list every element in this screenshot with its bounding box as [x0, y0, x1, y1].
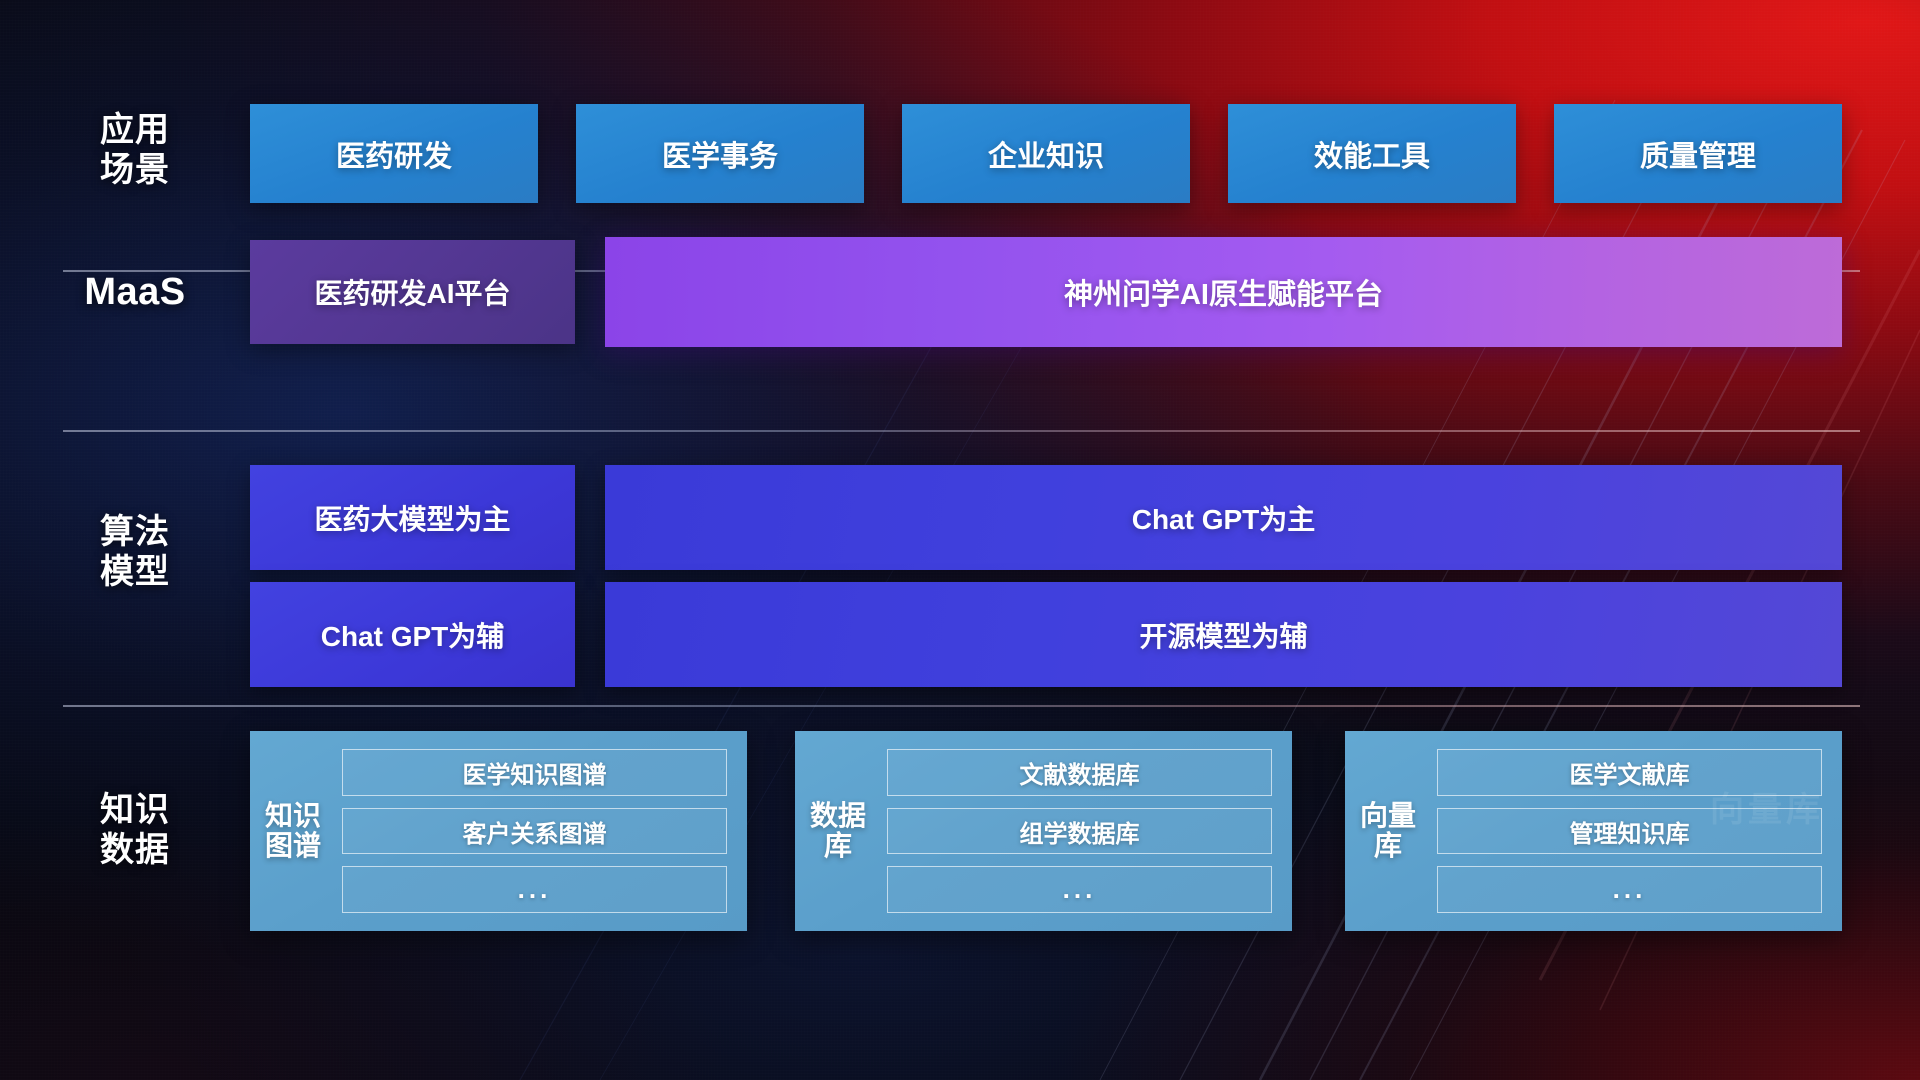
- app-card-qiyezhishi[interactable]: 企业知识: [902, 104, 1190, 203]
- maas-card-label: 医药研发AI平台: [314, 272, 510, 312]
- app-card-label: 医药研发: [336, 133, 452, 175]
- algorithm-card-chatgpt-primary[interactable]: Chat GPT为主: [605, 465, 1842, 570]
- app-card-zhiliangguanli[interactable]: 质量管理: [1554, 104, 1842, 203]
- app-card-label: 效能工具: [1314, 133, 1430, 175]
- knowledge-item[interactable]: 管理知识库: [1437, 808, 1822, 855]
- knowledge-item[interactable]: 组学数据库: [887, 808, 1272, 855]
- algorithm-card-label: Chat GPT为辅: [321, 615, 505, 655]
- app-card-label: 质量管理: [1640, 133, 1756, 175]
- knowledge-group-vector-database[interactable]: 向量 库 医学文献库 管理知识库 ...: [1345, 731, 1842, 931]
- algorithm-card-chatgpt-secondary[interactable]: Chat GPT为辅: [250, 582, 575, 687]
- knowledge-group-items: 医学文献库 管理知识库 ...: [1431, 741, 1828, 921]
- algorithm-card-opensource-secondary[interactable]: 开源模型为辅: [605, 582, 1842, 687]
- knowledge-group-knowledge-graph[interactable]: 知识 图谱 医学知识图谱 客户关系图谱 ...: [250, 731, 747, 931]
- algorithm-card-label: 医药大模型为主: [314, 498, 510, 538]
- knowledge-group-items: 医学知识图谱 客户关系图谱 ...: [336, 741, 733, 921]
- app-card-label: 企业知识: [988, 133, 1104, 175]
- architecture-diagram-slide: 应用 场景 医药研发 医学事务 企业知识 效能工具 质量管理 MaaS 医药研发…: [0, 0, 1920, 1080]
- row-label-maas: MaaS: [60, 270, 210, 315]
- algorithm-card-label: Chat GPT为主: [1132, 498, 1316, 538]
- knowledge-group-items: 文献数据库 组学数据库 ...: [881, 741, 1278, 921]
- algorithm-card-label: 开源模型为辅: [1139, 615, 1307, 655]
- maas-card-shenzhou-wenxue-platform[interactable]: 神州问学AI原生赋能平台: [605, 237, 1842, 347]
- knowledge-group-database[interactable]: 数据 库 文献数据库 组学数据库 ...: [795, 731, 1292, 931]
- knowledge-item-more[interactable]: ...: [1437, 866, 1822, 913]
- divider-after-algorithm-model: [63, 705, 1860, 707]
- knowledge-item[interactable]: 客户关系图谱: [342, 808, 727, 855]
- maas-card-label: 神州问学AI原生赋能平台: [1064, 271, 1383, 313]
- app-card-xiaonenggongju[interactable]: 效能工具: [1228, 104, 1516, 203]
- algorithm-card-pharma-llm-primary[interactable]: 医药大模型为主: [250, 465, 575, 570]
- app-card-yixueshiwu[interactable]: 医学事务: [576, 104, 864, 203]
- row-label-algorithm-model: 算法 模型: [60, 512, 210, 592]
- row-label-knowledge-data: 知识 数据: [60, 790, 210, 870]
- knowledge-item[interactable]: 医学文献库: [1437, 749, 1822, 796]
- row-label-application-scenarios: 应用 场景: [60, 110, 210, 190]
- knowledge-group-title: 向量 库: [1355, 801, 1421, 861]
- app-card-label: 医学事务: [662, 133, 778, 175]
- knowledge-item-more[interactable]: ...: [887, 866, 1272, 913]
- maas-card-pharma-ai-platform[interactable]: 医药研发AI平台: [250, 240, 575, 344]
- knowledge-group-title: 知识 图谱: [260, 801, 326, 861]
- knowledge-item[interactable]: 医学知识图谱: [342, 749, 727, 796]
- knowledge-item-more[interactable]: ...: [342, 866, 727, 913]
- divider-after-maas: [63, 430, 1860, 432]
- knowledge-group-title: 数据 库: [805, 801, 871, 861]
- knowledge-item[interactable]: 文献数据库: [887, 749, 1272, 796]
- diagram-rows: 应用 场景 医药研发 医学事务 企业知识 效能工具 质量管理 MaaS 医药研发…: [0, 0, 1920, 1080]
- app-card-yiyaoyanfa[interactable]: 医药研发: [250, 104, 538, 203]
